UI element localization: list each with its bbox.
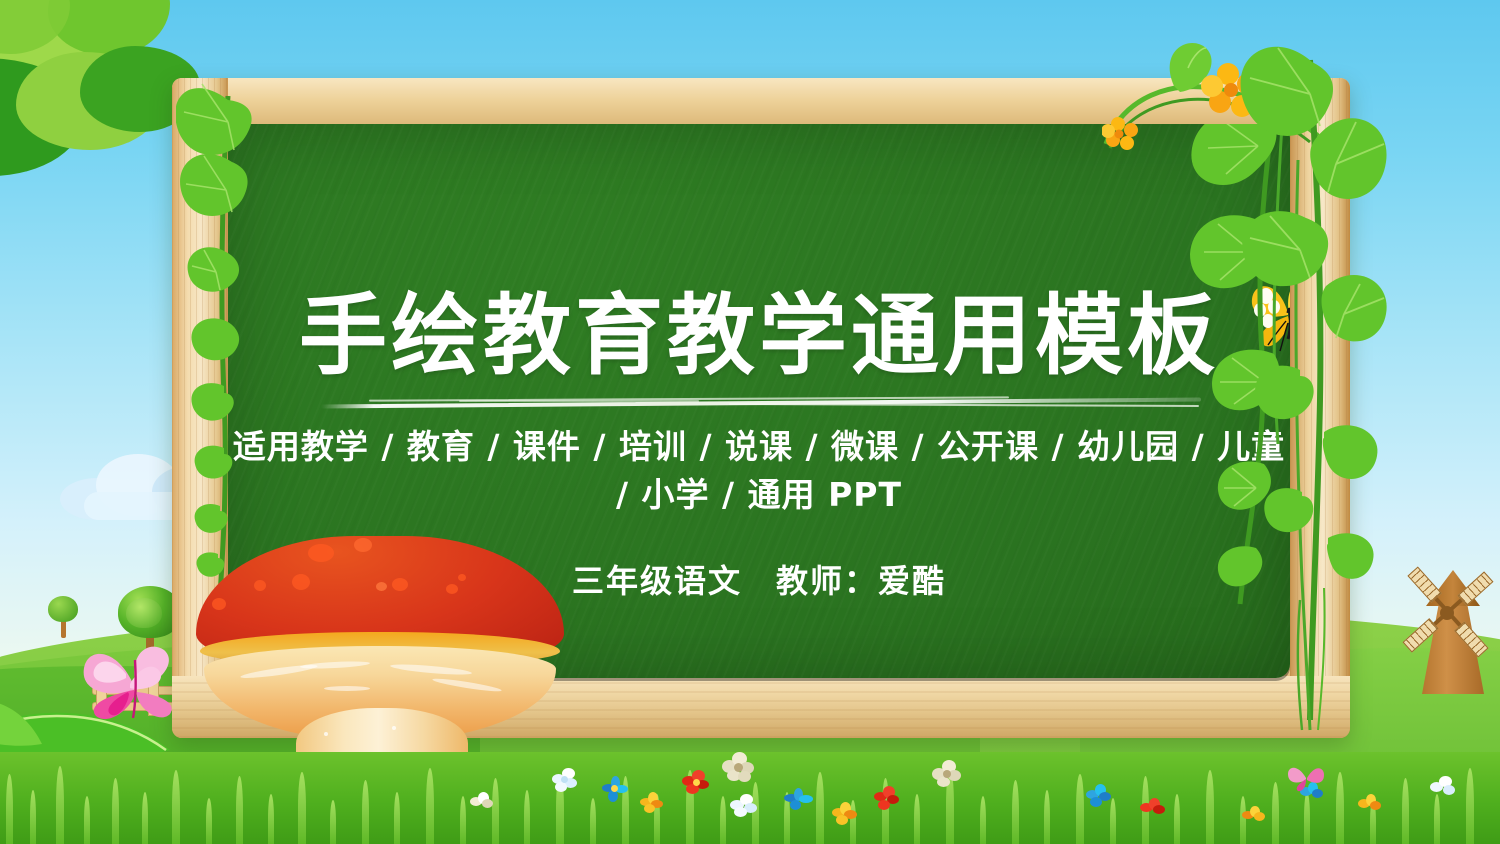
chalk-underline — [309, 396, 1209, 406]
wildflower — [1358, 794, 1382, 816]
small-tree-far — [48, 596, 78, 638]
windmill — [1392, 548, 1500, 688]
pink-butterfly-icon — [78, 640, 184, 726]
frame-rail-top — [172, 78, 1350, 126]
wildflower — [602, 776, 628, 802]
wildflower — [640, 792, 664, 814]
wildflower — [832, 802, 858, 826]
frame-rail-right — [1290, 78, 1350, 738]
wildflower — [682, 770, 710, 796]
wildflower — [784, 788, 814, 810]
page-title: 手绘教育教学通用模板 — [228, 292, 1290, 380]
wildflower — [932, 760, 962, 788]
yellow-butterfly-icon — [1248, 269, 1290, 355]
page-subtitle: 适用教学 / 教育 / 课件 / 培训 / 说课 / 微课 / 公开课 / 幼儿… — [228, 420, 1290, 516]
slide-canvas: 手绘教育教学通用模板 适用教学 / 教育 / 课件 / 培训 / 说课 / 微课… — [0, 0, 1500, 844]
wildflower — [722, 752, 754, 782]
wildflower — [470, 792, 494, 814]
butterfly-grass-right — [1286, 762, 1326, 792]
wildflower — [730, 794, 758, 818]
wildflower — [1140, 798, 1166, 820]
wildflower — [1086, 784, 1112, 808]
wildflower — [1430, 776, 1456, 800]
wildflower — [874, 786, 900, 812]
wildflower — [1242, 806, 1266, 826]
wildflower — [552, 768, 578, 794]
